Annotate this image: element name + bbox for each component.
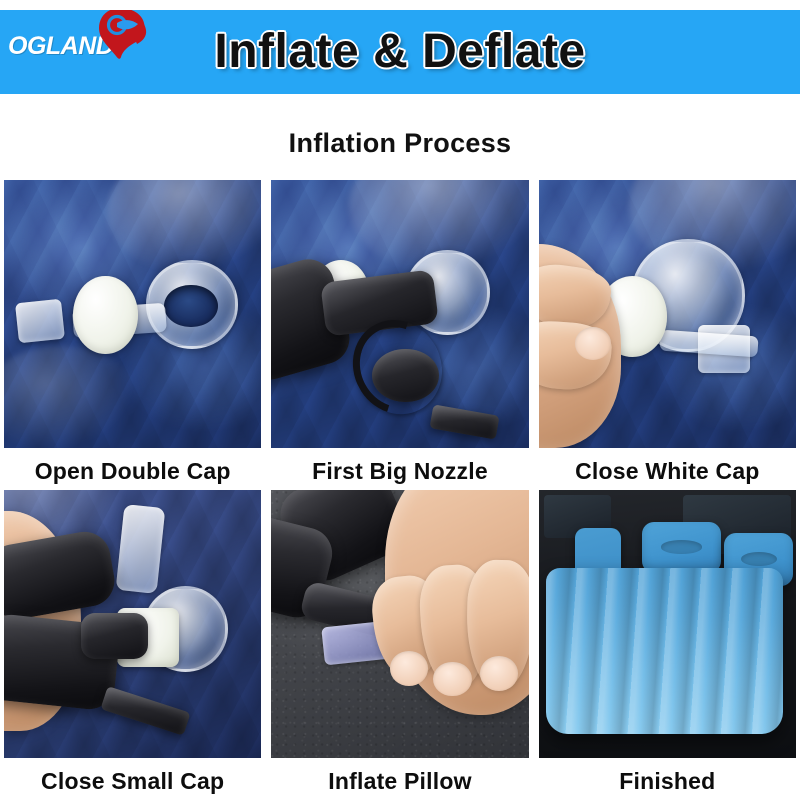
- fingernail-index: [390, 651, 429, 686]
- step-photo-close-white-cap: [539, 180, 796, 448]
- step-card-4: Close Small Cap: [4, 490, 261, 800]
- step-caption-5: Inflate Pillow: [271, 758, 528, 800]
- product-infographic-page: OGLAND Inflate & Deflate Inflation Proce…: [0, 0, 800, 800]
- fingernail-ring: [480, 656, 519, 691]
- step-photo-first-big-nozzle: [271, 180, 528, 448]
- step-card-6: Finished: [539, 490, 796, 800]
- step-card-5: Inflate Pillow: [271, 490, 528, 800]
- big-valve-opening: [164, 285, 218, 328]
- steps-grid: Open Double Cap First Big Nozzle: [0, 180, 800, 800]
- white-cap: [73, 276, 137, 354]
- step-photo-inflate-pillow: [271, 490, 528, 758]
- step-caption-2: First Big Nozzle: [271, 448, 528, 490]
- fingernail-middle: [433, 662, 472, 697]
- step-card-3: Close White Cap: [539, 180, 796, 490]
- step-caption-1: Open Double Cap: [4, 448, 261, 490]
- step-photo-open-double-cap: [4, 180, 261, 448]
- banner-title: Inflate & Deflate: [0, 16, 800, 88]
- pillow-left: [642, 522, 722, 573]
- step-photo-close-small-cap: [4, 490, 261, 758]
- small-cap: [15, 298, 65, 343]
- step-caption-4: Close Small Cap: [4, 758, 261, 800]
- step-card-1: Open Double Cap: [4, 180, 261, 490]
- pump-nozzle: [81, 613, 148, 659]
- step-caption-3: Close White Cap: [539, 448, 796, 490]
- step-photo-finished: [539, 490, 796, 758]
- step-caption-6: Finished: [539, 758, 796, 800]
- inflated-mattress: [546, 568, 783, 734]
- step-card-2: First Big Nozzle: [271, 180, 528, 490]
- section-heading: Inflation Process: [0, 128, 800, 159]
- fingernail: [575, 327, 611, 359]
- header-banner: OGLAND Inflate & Deflate: [0, 10, 800, 94]
